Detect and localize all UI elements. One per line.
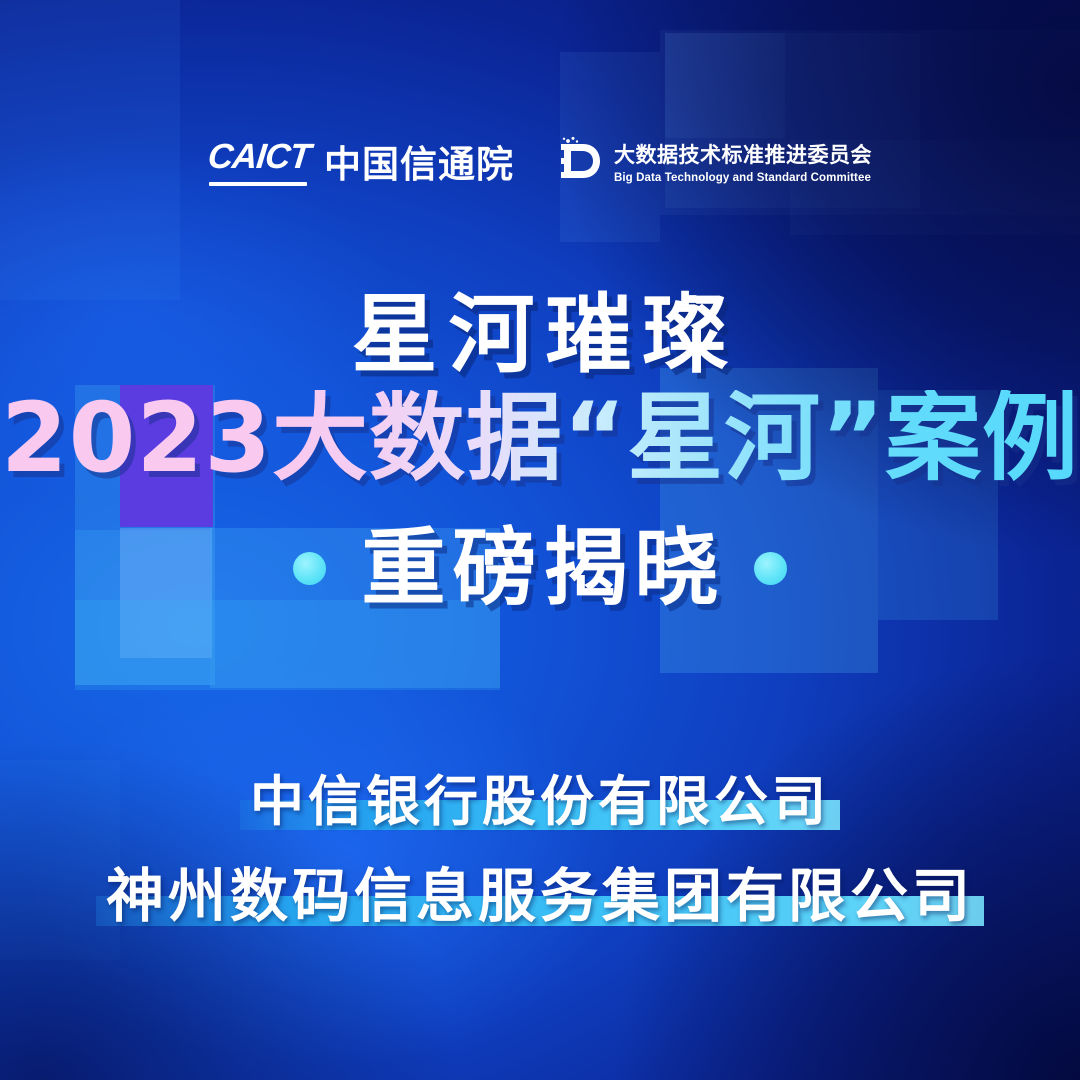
big-data-committee-text: 大数据技术标准推进委员会 Big Data Technology and Sta… bbox=[614, 139, 872, 184]
headline-line-2: 2023大数据“星河”案例 bbox=[0, 390, 1080, 486]
committee-english-name: Big Data Technology and Standard Committ… bbox=[614, 172, 872, 184]
headline-line-3: 重磅揭晓 bbox=[354, 526, 725, 610]
company-list: 中信银行股份有限公司 神州数码信息服务集团有限公司 bbox=[0, 770, 1080, 930]
company-name-text: 神州数码信息服务集团有限公司 bbox=[106, 862, 974, 930]
company-name-item: 神州数码信息服务集团有限公司 bbox=[106, 862, 974, 930]
letter-d-icon bbox=[556, 136, 602, 186]
poster-canvas: CAICT 中国信通院 大数据技术标准推进委员会 bbox=[0, 0, 1080, 1080]
caict-underline-rule bbox=[209, 182, 307, 186]
company-name-text: 中信银行股份有限公司 bbox=[250, 770, 830, 833]
decorative-dot-left-icon bbox=[293, 552, 326, 585]
caict-chinese-name: 中国信通院 bbox=[324, 134, 514, 188]
caict-logo: CAICT 中国信通院 bbox=[208, 134, 514, 188]
headline-line-3-row: 重磅揭晓 bbox=[0, 526, 1080, 610]
company-name-item: 中信银行股份有限公司 bbox=[250, 770, 830, 834]
headline-block: 星河璀璨 2023大数据“星河”案例 重磅揭晓 bbox=[0, 292, 1080, 610]
big-data-committee-logo: 大数据技术标准推进委员会 Big Data Technology and Sta… bbox=[556, 136, 872, 186]
logo-row: CAICT 中国信通院 大数据技术标准推进委员会 bbox=[0, 134, 1080, 188]
committee-chinese-name: 大数据技术标准推进委员会 bbox=[614, 139, 872, 169]
caict-wordmark: CAICT bbox=[208, 137, 310, 186]
headline-line-1: 星河璀璨 bbox=[0, 292, 1080, 378]
caict-wordmark-text: CAICT bbox=[206, 137, 312, 177]
decorative-dot-right-icon bbox=[754, 552, 787, 585]
